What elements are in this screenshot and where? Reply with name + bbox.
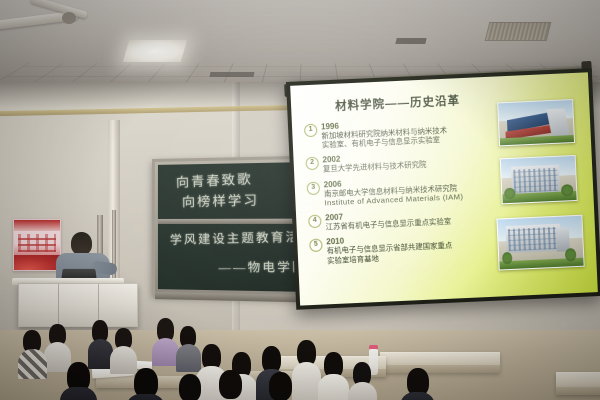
student-head <box>179 374 201 400</box>
desk-front-panel <box>380 365 500 373</box>
bullet-number-icon: 3 <box>307 181 321 195</box>
ceiling-gap-1 <box>395 38 426 44</box>
seated-student <box>126 368 164 400</box>
slide-photo-2 <box>500 155 578 204</box>
seated-student <box>212 370 248 400</box>
poster-text-rows <box>18 234 56 252</box>
seated-student <box>152 318 178 364</box>
seated-student <box>348 362 376 400</box>
seated-student <box>262 372 298 400</box>
bullet-number-icon: 5 <box>309 239 323 253</box>
slide-bullet-item: 5 2010 有机电子与信息显示省部共建国家重点 实验室培育基地 <box>309 230 500 266</box>
desk-front-panel <box>556 387 600 395</box>
slide-bullet-list: 1 1996 新加坡材料研究院纳米材料与纳米技术 实验室、有机电子与信息显示实验… <box>304 115 501 272</box>
seated-student <box>110 328 136 372</box>
slide-bullet-item: 3 2006 南京邮电大学信息材料与纳米技术研究院 Institute of A… <box>307 172 498 208</box>
podium <box>18 283 138 327</box>
lecture-hall-photo: 向青春致歌 向榜样学习 学风建设主题教育活动 ——物电学院 材料学院——历史沿革… <box>0 0 600 400</box>
slide-bullet-item: 4 2007 江苏省有机电子与信息显示重点实验室 <box>308 206 499 233</box>
ceiling-fan <box>0 2 110 38</box>
chalk-line-1: 向青春致歌 <box>176 168 254 191</box>
presenter-head <box>71 232 92 255</box>
student-torso <box>18 349 47 379</box>
ceiling-gap-2 <box>210 72 255 77</box>
projector-screen-border: 材料学院——历史沿革 1 1996 新加坡材料研究院纳米材料与纳米技术 实验室、… <box>286 68 600 310</box>
seated-student <box>318 352 348 400</box>
projector-screen: 材料学院——历史沿革 1 1996 新加坡材料研究院纳米材料与纳米技术 实验室、… <box>286 68 600 310</box>
student-head <box>269 372 292 400</box>
seated-student <box>88 320 112 366</box>
bullet-number-icon: 2 <box>305 157 319 171</box>
student-desk <box>556 372 600 395</box>
slide-bullet-item: 2 2002 复旦大学先进材料与技术研究院 <box>305 148 496 175</box>
seated-student <box>400 368 434 400</box>
student-torso <box>60 387 97 400</box>
slide-photo-3 <box>496 215 584 271</box>
bullet-number-icon: 1 <box>304 124 318 138</box>
bullet-number-icon: 4 <box>308 215 322 229</box>
student-torso <box>400 392 435 400</box>
ceiling-light-panel <box>123 40 187 62</box>
poster-header-band <box>14 220 60 231</box>
student-head <box>219 370 242 399</box>
fan-hub <box>62 12 76 24</box>
photo-windows <box>513 168 558 193</box>
slide-title: 材料学院——历史沿革 <box>335 92 461 114</box>
student-torso <box>348 382 377 400</box>
slide-photo-1 <box>497 99 575 146</box>
slide-bullet-item: 1 1996 新加坡材料研究院纳米材料与纳米技术 实验室、有机电子与信息显示实验… <box>304 115 495 151</box>
seated-student <box>60 362 96 400</box>
podium-panel-seam <box>58 284 59 326</box>
student-torso <box>126 394 165 400</box>
seated-student <box>18 330 46 376</box>
student-desk <box>380 352 500 373</box>
student-torso <box>318 374 349 400</box>
presentation-slide: 材料学院——历史沿革 1 1996 新加坡材料研究院纳米材料与纳米技术 实验室、… <box>290 72 598 305</box>
photo-windows <box>508 227 559 251</box>
student-torso <box>152 338 179 366</box>
seated-student <box>172 374 206 400</box>
chalk-line-2: 向榜样学习 <box>182 189 260 210</box>
ceiling-air-vent <box>485 22 552 41</box>
